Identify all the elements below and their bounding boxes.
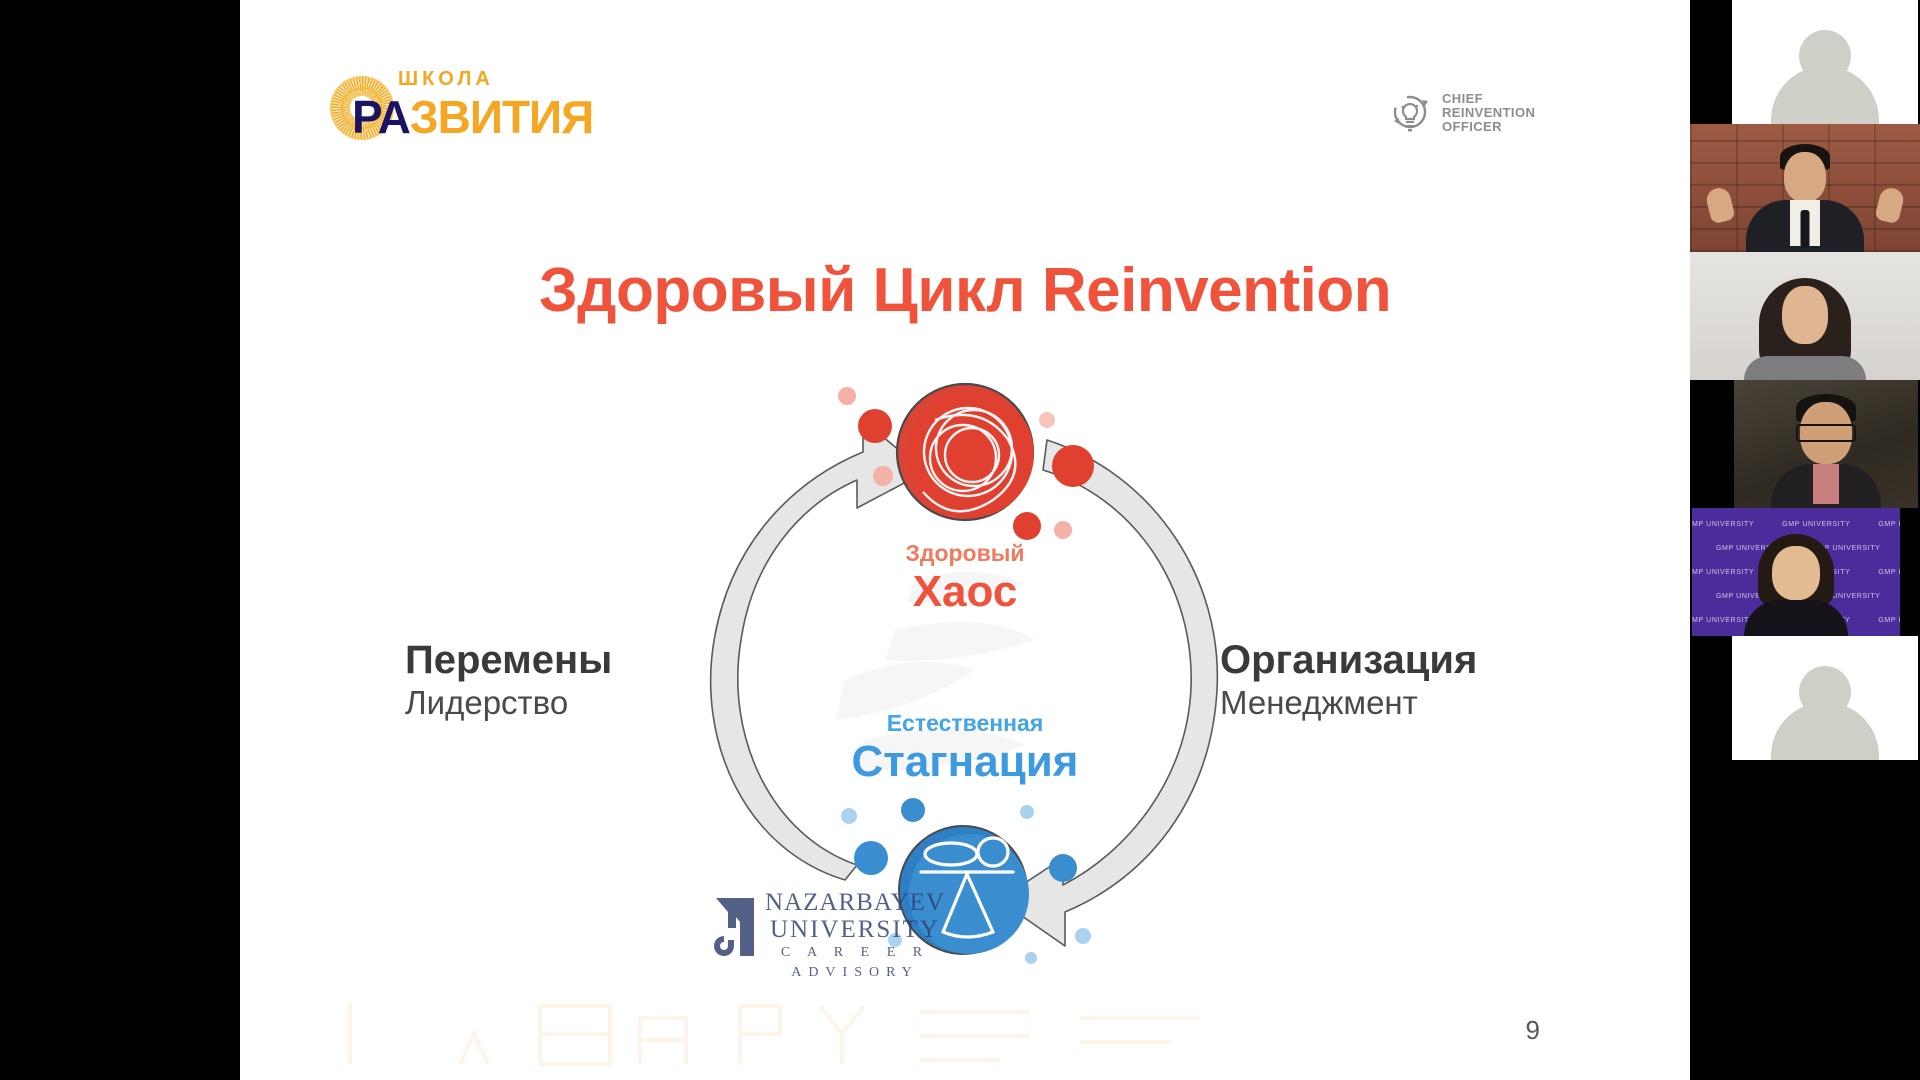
- face: [1784, 152, 1826, 202]
- blue-dot-faded: [1020, 805, 1034, 819]
- logo-wordmark-gold: ЗВИТИЯ: [410, 91, 593, 143]
- chaos-small-label: Здоровый: [765, 540, 1165, 567]
- participant-tile[interactable]: [1690, 380, 1920, 508]
- page-title: Здоровый Цикл Reinvention: [240, 255, 1690, 326]
- backdrop-text: GMP UNIVERSITY: [1692, 569, 1754, 576]
- avatar-body-icon: [1771, 66, 1879, 124]
- participant-tile[interactable]: [1690, 124, 1920, 252]
- face: [1772, 546, 1820, 600]
- backdrop-text: GMP UNIVERSITY: [1878, 521, 1900, 528]
- shirt: [1813, 464, 1839, 504]
- participant-video-strip: GMP UNIVERSITYGMP UNIVERSITYGMP UNIVERSI…: [1690, 0, 1920, 1080]
- left-label-title: Перемены: [405, 637, 612, 683]
- logo-wordmark-dark: РА: [352, 91, 410, 143]
- red-dot-faded: [838, 387, 856, 405]
- chief-reinvention-officer-logo: CHIEF REINVENTION OFFICER: [1390, 90, 1590, 146]
- participant-avatar-placeholder: [1732, 636, 1918, 760]
- backdrop-text: GMP UNIVERSITY: [1782, 521, 1850, 528]
- torso: [1744, 600, 1848, 636]
- torso: [1744, 356, 1866, 380]
- left-label-subtitle: Лидерство: [405, 683, 612, 723]
- stagnation-big-label: Стагнация: [765, 737, 1165, 787]
- cro-line-1: CHIEF: [1442, 92, 1535, 106]
- screen-share-stage: ШКОЛА РАЗВИТИЯ CHIEF REINVENTION OFFICER: [0, 0, 1920, 1080]
- logo-wordmark: РАЗВИТИЯ: [352, 90, 593, 144]
- blue-dot: [854, 841, 888, 875]
- stagnation-small-label: Естественная: [765, 710, 1165, 737]
- blue-dot-faded: [888, 933, 902, 947]
- participant-woman-light-room: [1690, 252, 1920, 380]
- backdrop-text: GMP UNIVERSITY: [1692, 617, 1754, 624]
- blue-dot: [901, 798, 925, 822]
- participant-speaking-man-brick-wall: [1690, 124, 1920, 252]
- red-dot: [858, 409, 892, 443]
- face: [1782, 286, 1828, 344]
- page-number: 9: [1526, 1015, 1540, 1046]
- necktie: [1801, 210, 1810, 248]
- right-side-label: Организация Менеджмент: [1220, 637, 1477, 723]
- chaos-big-label: Хаос: [765, 567, 1165, 617]
- blue-dot-faded: [1075, 928, 1091, 944]
- blue-dot: [1049, 854, 1077, 882]
- eyeglasses-icon: [1796, 424, 1856, 442]
- red-dot-faded: [1054, 521, 1072, 539]
- red-dot: [1052, 445, 1094, 487]
- left-side-label: Перемены Лидерство: [405, 637, 612, 723]
- cro-line-2: REINVENTION: [1442, 106, 1535, 120]
- lightbulb-reinvention-icon: [1390, 94, 1434, 140]
- shkola-razvitiya-logo: ШКОЛА РАЗВИТИЯ: [330, 58, 640, 148]
- red-dot-faded: [1039, 412, 1055, 428]
- backdrop-text: GMP UNIVERSITY: [1692, 521, 1754, 528]
- blue-dot-faded: [841, 808, 857, 824]
- backdrop-text-row: GMP UNIVERSITYGMP UNIVERSITYGMP UNIVERSI…: [1692, 512, 1900, 536]
- cro-wordmark: CHIEF REINVENTION OFFICER: [1442, 92, 1535, 134]
- red-dot: [1013, 512, 1041, 540]
- backdrop-text: GMP UNIVERSITY: [1878, 617, 1900, 624]
- right-label-subtitle: Менеджмент: [1220, 683, 1477, 723]
- red-dot-faded: [873, 466, 893, 486]
- participant-tile[interactable]: [1690, 0, 1920, 124]
- right-label-title: Организация: [1220, 637, 1477, 683]
- participant-man-glasses-office: [1734, 380, 1918, 508]
- participant-tile[interactable]: GMP UNIVERSITYGMP UNIVERSITYGMP UNIVERSI…: [1690, 508, 1920, 636]
- participant-woman-gmp-backdrop: GMP UNIVERSITYGMP UNIVERSITYGMP UNIVERSI…: [1692, 508, 1900, 636]
- cro-line-3: OFFICER: [1442, 120, 1535, 134]
- blue-dot-faded: [1025, 952, 1037, 964]
- participant-tile[interactable]: [1690, 636, 1920, 760]
- logo-top-word: ШКОЛА: [398, 68, 494, 91]
- participant-tile[interactable]: [1690, 252, 1920, 380]
- participant-avatar-placeholder: [1732, 0, 1918, 124]
- chaos-node-label: Здоровый Хаос: [765, 540, 1165, 617]
- bottom-decorative-watermark: [340, 992, 1240, 1072]
- avatar-body-icon: [1771, 702, 1879, 760]
- backdrop-text: GMP UNIVERSITY: [1878, 569, 1900, 576]
- stagnation-node-label: Естественная Стагнация: [765, 710, 1165, 787]
- presentation-slide: ШКОЛА РАЗВИТИЯ CHIEF REINVENTION OFFICER: [240, 0, 1690, 1080]
